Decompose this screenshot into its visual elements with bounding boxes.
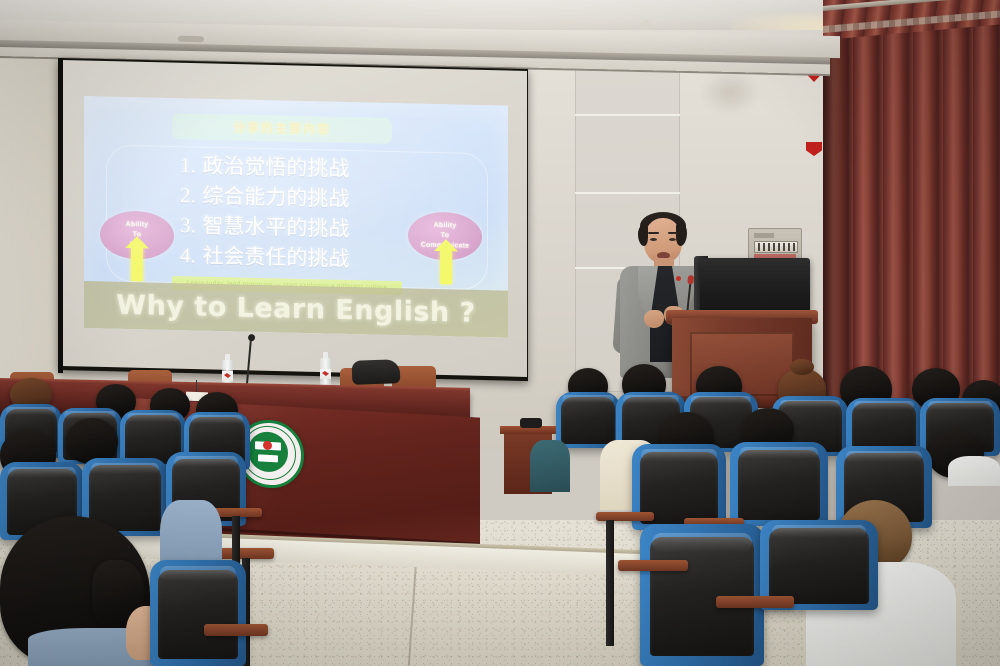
- audience-seat[interactable]: [730, 442, 828, 526]
- slide-banner-text: Why to Learn English ?: [84, 281, 508, 338]
- breaker-switch-row: [754, 241, 798, 253]
- audience-shoulders: [948, 456, 1000, 486]
- screen-left-edge: [58, 58, 63, 373]
- speaker-eye-right: [669, 238, 676, 241]
- slide-bullet-list: 1. 政治觉悟的挑战 2. 综合能力的挑战 3. 智慧水平的挑战 4. 社会责任…: [180, 150, 420, 275]
- arrow-up-icon-left: [131, 247, 143, 281]
- seat-armrest: [204, 624, 268, 636]
- seat-armrest: [618, 560, 688, 571]
- bullet-text: 综合能力的挑战: [202, 184, 349, 211]
- speaker-hand-left: [644, 310, 664, 328]
- arrow-up-icon-right: [440, 250, 452, 284]
- list-item: 4. 社会责任的挑战: [180, 240, 420, 275]
- bullet-text: 政治觉悟的挑战: [202, 154, 349, 181]
- water-bottle: [320, 358, 331, 388]
- seat-armrest: [596, 512, 654, 521]
- speaker-eyebrow-left: [648, 232, 659, 234]
- lecture-hall-photo: 分享的主要内容 1. 政治觉悟的挑战 2. 综合能力的挑战 3. 智慧水平的挑战…: [0, 0, 1000, 666]
- audience-seat[interactable]: [556, 392, 620, 448]
- bullet-number: 3.: [180, 213, 196, 237]
- audience-seat[interactable]: [150, 560, 246, 666]
- audience-shoulders: [530, 440, 570, 492]
- seat-armrest: [716, 596, 794, 608]
- black-bag: [352, 359, 401, 385]
- speaker-hair-side-left: [638, 226, 648, 246]
- bullet-number: 1.: [180, 153, 196, 177]
- bullet-text: 社会责任的挑战: [202, 244, 349, 271]
- slide-title-box: 分享的主要内容: [172, 113, 392, 144]
- seat-leg: [606, 520, 614, 646]
- slide-title: 分享的主要内容: [172, 113, 392, 144]
- bullet-number: 4.: [180, 243, 196, 267]
- bullet-number: 2.: [180, 183, 196, 207]
- ceiling-vent-icon: [178, 36, 204, 43]
- callout-line-1: Ability: [434, 221, 457, 232]
- audience-seat[interactable]: [640, 524, 764, 666]
- speaker-eye-left: [650, 238, 657, 241]
- projected-slide: 分享的主要内容 1. 政治觉悟的挑战 2. 综合能力的挑战 3. 智慧水平的挑战…: [84, 96, 508, 338]
- wall-stain: [700, 70, 760, 114]
- bullet-text: 智慧水平的挑战: [202, 214, 349, 241]
- slide-banner: Why to Learn English ?: [84, 281, 508, 338]
- callout-line-1: Ability: [126, 220, 149, 231]
- speaker-lapel-badge: [676, 276, 681, 281]
- speaker-eyebrow-right: [668, 232, 679, 234]
- side-desk-items: [520, 418, 542, 428]
- wall-left-strip: [0, 52, 62, 412]
